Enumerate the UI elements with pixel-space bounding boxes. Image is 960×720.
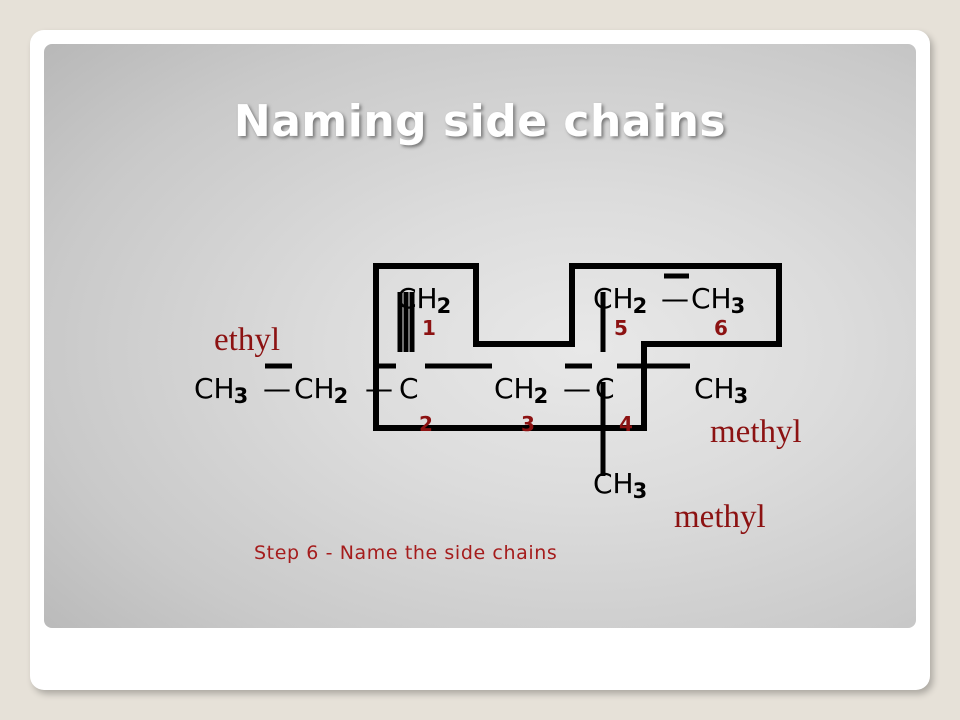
atom-label: C <box>595 375 615 403</box>
chain-number: 1 <box>422 316 436 340</box>
atom-label: CH3 <box>194 375 248 407</box>
chain-number: 2 <box>419 412 433 436</box>
bond-lines-svg <box>44 44 916 628</box>
molecule-diagram: CH3 — CH2 — C CH2 — C CH3 CH2 CH2 — CH3 … <box>44 44 916 628</box>
atom-label: CH2 <box>294 375 348 407</box>
side-chain-label-methyl-bottom: methyl <box>674 499 766 536</box>
side-chain-label-methyl-right: methyl <box>710 414 802 451</box>
atom-label: CH3 <box>694 375 748 407</box>
chain-number: 5 <box>614 316 628 340</box>
atom-label: CH2 <box>593 285 647 317</box>
bond-dash-1: — <box>263 375 291 403</box>
slide-card: Naming side chains <box>30 30 930 690</box>
chain-number: 4 <box>619 412 633 436</box>
atom-label: CH2 <box>397 285 451 317</box>
atom-label: CH2 <box>494 375 548 407</box>
chain-number: 3 <box>521 412 535 436</box>
atom-label: C <box>399 375 419 403</box>
bond-dash-4: — <box>661 285 689 313</box>
bond-dash-3: — <box>563 375 591 403</box>
bond-dash-2: — <box>365 375 393 403</box>
step-caption: Step 6 - Name the side chains <box>254 542 557 564</box>
atom-label: CH3 <box>691 285 745 317</box>
side-chain-label-ethyl: ethyl <box>214 322 280 359</box>
slide-content-area: Naming side chains <box>44 44 916 628</box>
atom-label: CH3 <box>593 470 647 502</box>
chain-number: 6 <box>714 316 728 340</box>
